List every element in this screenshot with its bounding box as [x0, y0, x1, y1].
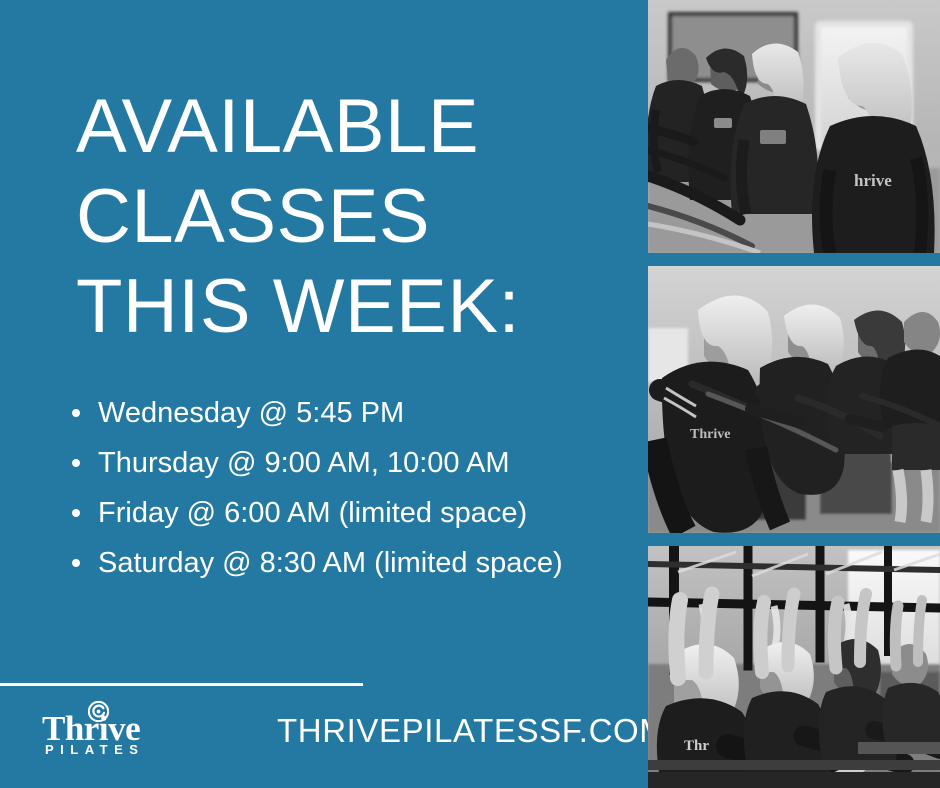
content-column: AVAILABLE CLASSES THIS WEEK: Wednesday @… — [0, 0, 648, 788]
list-item: Saturday @ 8:30 AM (limited space) — [70, 538, 640, 588]
photo-arm-springs: Thrive — [648, 266, 940, 533]
bullet-icon — [72, 559, 80, 567]
svg-text:hrive: hrive — [854, 171, 892, 190]
logo-wordmark: Thrive — [42, 711, 140, 746]
brand-logo: Thrive PILATES — [42, 703, 162, 759]
photo-teaser-bars: Thr — [648, 546, 940, 788]
headline-line-2: CLASSES — [76, 172, 636, 262]
class-schedule-list: Wednesday @ 5:45 PM Thursday @ 9:00 AM, … — [70, 388, 640, 588]
website-url[interactable]: THRIVEPILATESSF.COM — [277, 712, 667, 750]
logo-subtitle: PILATES — [45, 743, 144, 756]
headline-line-3: THIS WEEK: — [76, 262, 636, 352]
bullet-icon — [72, 509, 80, 517]
bullet-icon — [72, 459, 80, 467]
page-title: AVAILABLE CLASSES THIS WEEK: — [76, 82, 636, 352]
list-item: Friday @ 6:00 AM (limited space) — [70, 488, 640, 538]
photo-standing-row: hrive — [648, 0, 940, 253]
footer-divider — [0, 683, 363, 686]
poster-canvas: AVAILABLE CLASSES THIS WEEK: Wednesday @… — [0, 0, 940, 788]
svg-text:Thr: Thr — [684, 738, 709, 754]
list-item: Thursday @ 9:00 AM, 10:00 AM — [70, 438, 640, 488]
class-item-label: Saturday @ 8:30 AM (limited space) — [98, 547, 563, 579]
svg-text:Thrive: Thrive — [690, 427, 730, 442]
list-item: Wednesday @ 5:45 PM — [70, 388, 640, 438]
photo-column: hrive — [648, 0, 940, 788]
class-item-label: Thursday @ 9:00 AM, 10:00 AM — [98, 447, 509, 479]
headline-line-1: AVAILABLE — [76, 82, 636, 172]
class-item-label: Friday @ 6:00 AM (limited space) — [98, 497, 527, 529]
class-item-label: Wednesday @ 5:45 PM — [98, 397, 404, 429]
bullet-icon — [72, 409, 80, 417]
